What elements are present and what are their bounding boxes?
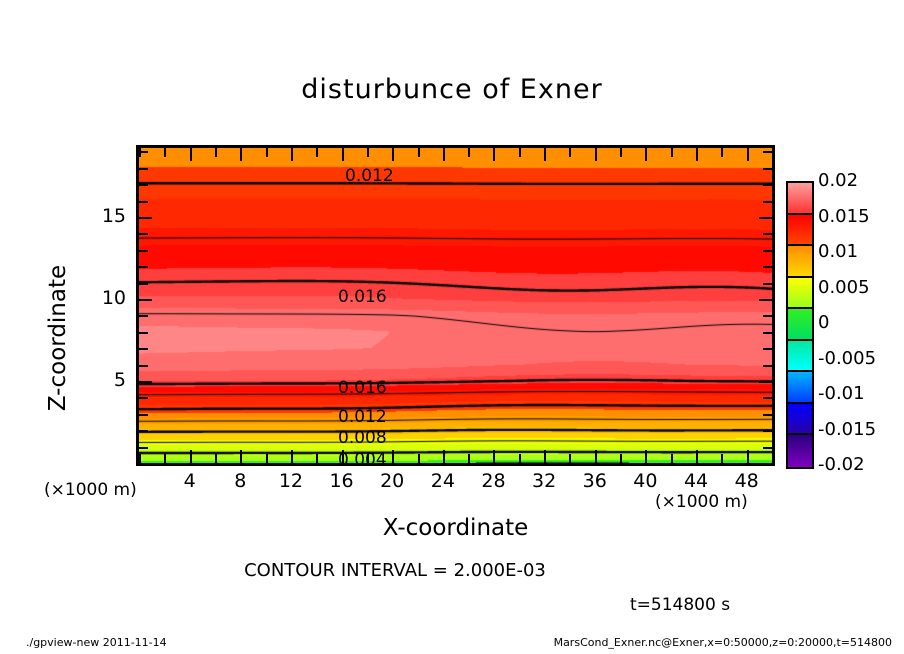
y-tick-label: 10 [86, 287, 126, 309]
y-tick-left [139, 217, 152, 219]
y-tick-right [763, 332, 772, 334]
x-tick-top [671, 148, 673, 157]
y-tick-label: 15 [86, 205, 126, 227]
y-tick-right [763, 414, 772, 416]
y-tick-left [139, 414, 148, 416]
colorbar-tick-label: -0.02 [818, 454, 865, 475]
x-tick-top [772, 148, 774, 157]
x-tick-bottom [569, 454, 571, 463]
x-tick-bottom [164, 454, 166, 463]
x-tick-top [316, 148, 318, 157]
x-tick-bottom [696, 450, 698, 463]
x-tick-bottom [266, 454, 268, 463]
y-tick-right [763, 184, 772, 186]
x-tick-bottom [772, 454, 774, 463]
x-tick-bottom [190, 450, 192, 463]
x-tick-top [342, 148, 344, 161]
contour-level-label: 0.016 [338, 378, 387, 398]
y-tick-left [139, 201, 148, 203]
x-tick-top [240, 148, 242, 161]
colorbar-band [788, 309, 812, 341]
x-tick-top [696, 148, 698, 161]
y-tick-right [763, 283, 772, 285]
footer-source-text: MarsCond_Exner.nc@Exner,x=0:50000,z=0:20… [554, 636, 892, 649]
y-tick-right [763, 365, 772, 367]
contour-level-label: 0.012 [338, 407, 387, 427]
colorbar-band [788, 435, 812, 467]
x-tick-top [215, 148, 217, 157]
colorbar-band [788, 341, 812, 373]
x-tick-bottom [139, 454, 141, 463]
y-tick-left [139, 332, 148, 334]
x-tick-bottom [645, 450, 647, 463]
colorbar-band [788, 246, 812, 278]
x-tick-top [418, 148, 420, 157]
contour-level-label: 0.016 [338, 287, 387, 307]
x-tick-top [190, 148, 192, 161]
y-tick-left [139, 463, 148, 465]
x-tick-top [392, 148, 394, 161]
y-tick-left [139, 168, 148, 170]
contour-level-label: 0.004 [338, 450, 387, 470]
y-tick-right [763, 266, 772, 268]
colorbar-band [788, 183, 812, 215]
x-tick-top [544, 148, 546, 161]
contour-field-canvas [139, 148, 772, 463]
colorbar-band [788, 404, 812, 436]
y-tick-left [139, 315, 148, 317]
contour-interval-text: CONTOUR INTERVAL = 2.000E-03 [0, 560, 790, 581]
y-tick-right [763, 463, 772, 465]
x-tick-bottom [392, 450, 394, 463]
y-tick-right [763, 348, 772, 350]
colorbar-band [788, 372, 812, 404]
colorbar-tick-label: 0.015 [818, 206, 870, 227]
x-tick-top [291, 148, 293, 161]
colorbar [786, 181, 814, 469]
colorbar-tick-label: 0 [818, 312, 829, 333]
colorbar-tick-label: 0.005 [818, 277, 870, 298]
x-tick-bottom [291, 450, 293, 463]
x-tick-top [747, 148, 749, 161]
colorbar-band [788, 215, 812, 247]
x-tick-bottom [418, 454, 420, 463]
colorbar-tick-label: -0.005 [818, 348, 876, 369]
y-tick-right [763, 233, 772, 235]
y-tick-right [763, 430, 772, 432]
colorbar-tick-label: 0.01 [818, 241, 858, 262]
contour-level-label: 0.008 [338, 428, 387, 448]
x-tick-top [493, 148, 495, 161]
y-tick-left [139, 430, 148, 432]
x-tick-bottom [215, 454, 217, 463]
x-tick-top [595, 148, 597, 161]
x-tick-bottom [721, 454, 723, 463]
x-tick-top [164, 148, 166, 157]
y-tick-right [763, 315, 772, 317]
x-tick-bottom [493, 450, 495, 463]
x-tick-top [721, 148, 723, 157]
x-axis-unit-label: (×1000 m) [655, 492, 748, 512]
y-tick-right [763, 250, 772, 252]
x-tick-bottom [443, 450, 445, 463]
y-tick-right [763, 168, 772, 170]
x-tick-bottom [595, 450, 597, 463]
contour-plot-area [136, 145, 775, 466]
x-tick-top [443, 148, 445, 161]
y-tick-right [759, 217, 772, 219]
contour-level-label: 0.012 [345, 166, 394, 186]
x-tick-top [569, 148, 571, 157]
y-tick-left [139, 381, 152, 383]
y-tick-left [139, 299, 152, 301]
page-title: disturbunce of Exner [0, 74, 904, 105]
x-tick-bottom [544, 450, 546, 463]
y-tick-left [139, 250, 148, 252]
y-tick-left [139, 266, 148, 268]
x-tick-top [367, 148, 369, 157]
x-tick-top [266, 148, 268, 157]
y-tick-left [139, 184, 148, 186]
y-tick-right [759, 299, 772, 301]
colorbar-tick-label: -0.015 [818, 419, 876, 440]
y-tick-left [139, 397, 148, 399]
x-tick-bottom [620, 454, 622, 463]
y-tick-right [759, 381, 772, 383]
y-tick-left [139, 233, 148, 235]
y-tick-right [763, 447, 772, 449]
footer-command-text: ./gpview-new 2011-11-14 [26, 636, 167, 649]
y-axis-title: Z-coordinate [45, 218, 71, 458]
x-tick-bottom [316, 454, 318, 463]
colorbar-band [788, 278, 812, 310]
y-tick-right [763, 397, 772, 399]
y-tick-right [763, 151, 772, 153]
x-axis-title: X-coordinate [136, 515, 775, 541]
y-tick-left [139, 348, 148, 350]
x-tick-bottom [671, 454, 673, 463]
x-tick-label: 48 [717, 470, 777, 492]
x-tick-top [620, 148, 622, 157]
x-tick-bottom [747, 450, 749, 463]
x-tick-bottom [468, 454, 470, 463]
y-tick-label: 5 [86, 369, 126, 391]
y-axis-unit-label: (×1000 m) [44, 480, 137, 500]
y-tick-left [139, 447, 148, 449]
y-tick-left [139, 365, 148, 367]
colorbar-tick-label: 0.02 [818, 170, 858, 191]
y-tick-right [763, 201, 772, 203]
time-stamp-text: t=514800 s [630, 595, 730, 615]
x-tick-top [468, 148, 470, 157]
x-tick-top [645, 148, 647, 161]
y-tick-left [139, 151, 148, 153]
y-tick-left [139, 283, 148, 285]
x-tick-bottom [240, 450, 242, 463]
colorbar-tick-label: -0.01 [818, 383, 865, 404]
x-tick-top [519, 148, 521, 157]
x-tick-bottom [519, 454, 521, 463]
